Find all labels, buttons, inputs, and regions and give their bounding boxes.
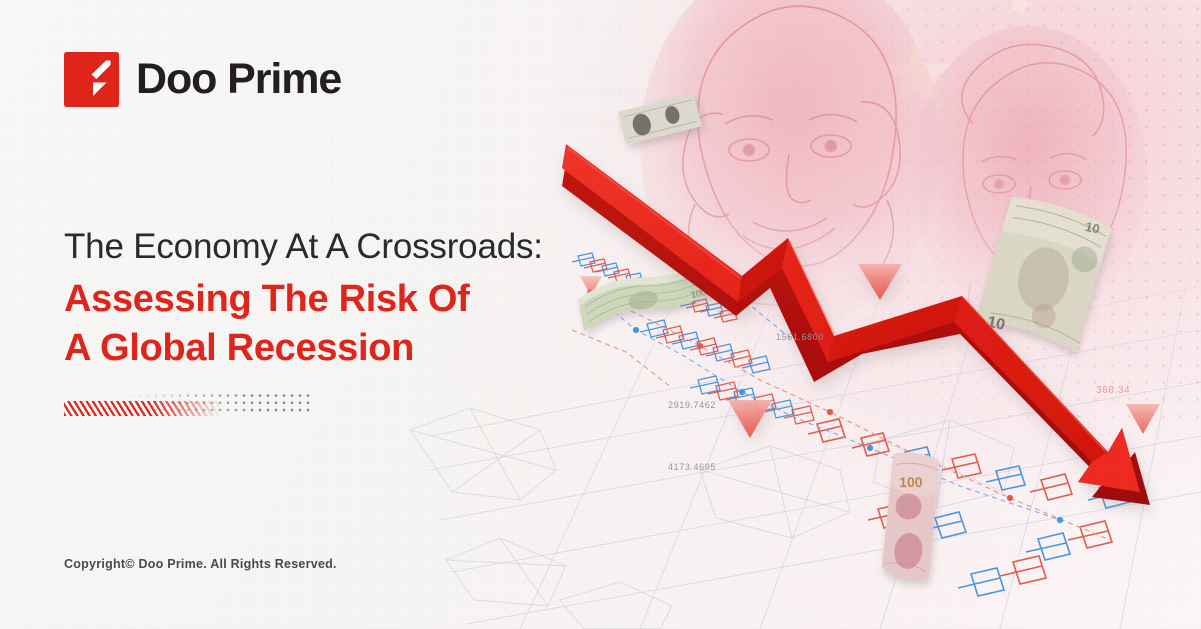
- divider-stripe-bar: [64, 401, 224, 416]
- decorative-divider: [64, 392, 314, 418]
- brand-logo[interactable]: Doo Prime: [64, 52, 341, 107]
- doo-prime-flag-mark-icon: [64, 52, 119, 107]
- headline-line-3: A Global Recession: [64, 324, 543, 373]
- copyright-text: Copyright© Doo Prime. All Rights Reserve…: [64, 557, 337, 571]
- promotional-banner: 100 10 10: [0, 0, 1201, 629]
- headline-line-1: The Economy At A Crossroads:: [64, 225, 543, 270]
- brand-name: Doo Prime: [136, 58, 341, 101]
- headline-line-2: Assessing The Risk Of: [64, 275, 543, 324]
- headline-block: The Economy At A Crossroads: Assessing T…: [64, 225, 543, 374]
- dot-pattern-right: [441, 0, 1201, 430]
